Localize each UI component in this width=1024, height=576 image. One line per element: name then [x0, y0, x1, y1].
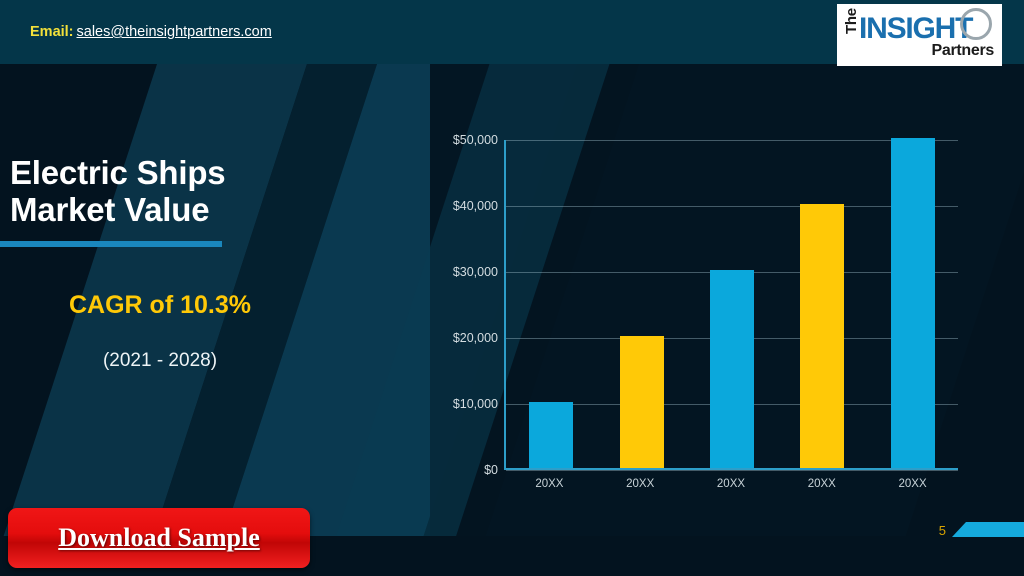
page-title: Electric Ships Market Value: [10, 155, 410, 229]
chart-y-tick-label: $50,000: [453, 133, 498, 147]
chart-y-tick-label: $0: [484, 463, 498, 477]
page-title-line-1: Electric Ships: [10, 155, 410, 192]
chart-bar-slot: [620, 140, 664, 468]
logo-insight-text: INSIGHT: [859, 12, 972, 46]
email-label: Email:: [30, 24, 74, 40]
logo-the-text: The: [843, 8, 860, 34]
cagr-value: CAGR of 10.3%: [0, 291, 320, 320]
download-sample-button[interactable]: Download Sample: [8, 508, 310, 568]
chart-x-tick-label: 20XX: [618, 478, 662, 490]
chart-bar-slot: [800, 140, 844, 468]
chart-bar[interactable]: [710, 270, 754, 468]
logo-partners-text: Partners: [931, 42, 994, 60]
email-link[interactable]: sales@theinsightpartners.com: [77, 24, 272, 40]
chart-x-tick-label: 20XX: [527, 478, 571, 490]
download-sample-label: Download Sample: [58, 523, 260, 553]
email-line: Email:sales@theinsightpartners.com: [30, 24, 272, 40]
chart-y-tick-label: $20,000: [453, 331, 498, 345]
page-title-line-2: Market Value: [10, 192, 410, 229]
chart-x-tick-label: 20XX: [709, 478, 753, 490]
chart-bar-slot: [891, 140, 935, 468]
chart-bar[interactable]: [891, 138, 935, 468]
chart-bar-slot: [710, 140, 754, 468]
chart-bar[interactable]: [529, 402, 573, 468]
chart-y-tick-label: $10,000: [453, 397, 498, 411]
slide: Email:sales@theinsightpartners.com The I…: [0, 0, 1024, 576]
company-logo[interactable]: The INSIGHT Partners: [837, 4, 1002, 66]
chart-plot-area: [504, 140, 958, 470]
market-value-bar-chart: $0$10,000$20,000$30,000$40,000$50,000 20…: [432, 130, 972, 500]
title-underline-rule: [0, 241, 222, 247]
chart-bar[interactable]: [620, 336, 664, 468]
chart-y-tick-label: $30,000: [453, 265, 498, 279]
chart-bar-slot: [529, 140, 573, 468]
magnifier-icon: [960, 8, 992, 40]
forecast-period: (2021 - 2028): [0, 350, 320, 372]
chart-y-tick-label: $40,000: [453, 199, 498, 213]
chart-gridline: [506, 470, 958, 471]
page-number: 5: [939, 523, 946, 538]
chart-bar[interactable]: [800, 204, 844, 468]
chart-x-tick-label: 20XX: [800, 478, 844, 490]
chart-x-tick-label: 20XX: [891, 478, 935, 490]
chart-x-axis: 20XX20XX20XX20XX20XX: [504, 478, 958, 490]
chart-bars: [506, 140, 958, 468]
